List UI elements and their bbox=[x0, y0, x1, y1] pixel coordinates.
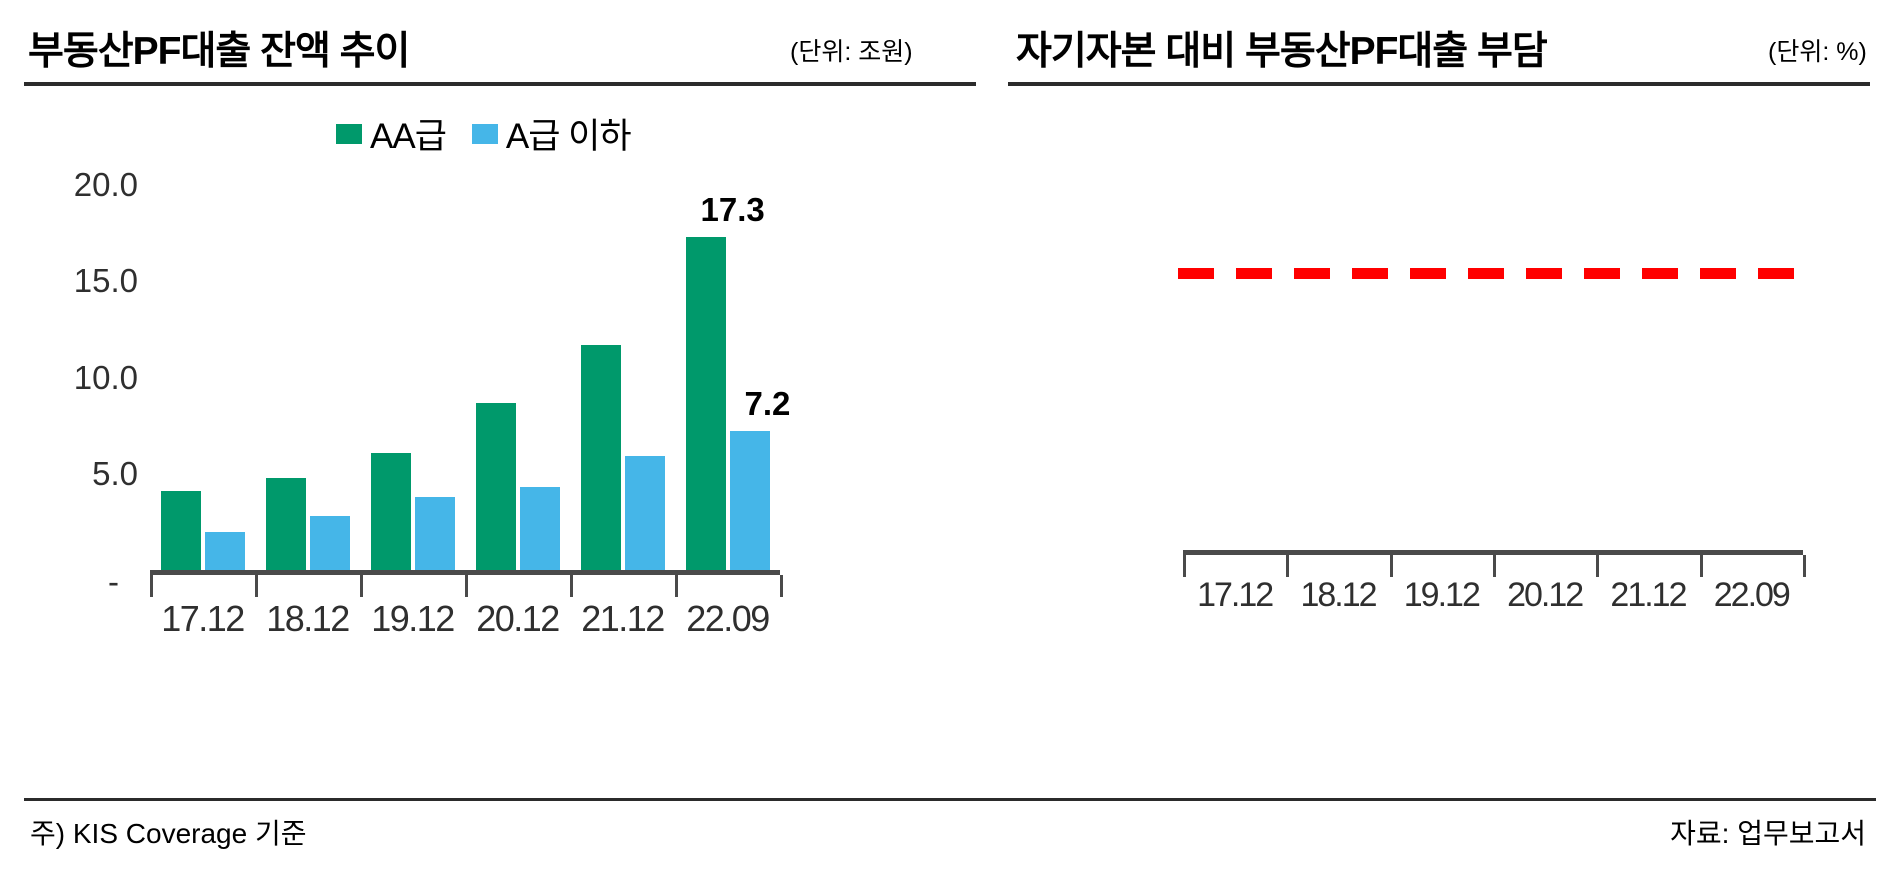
left-panel-header: 부동산PF대출 잔액 추이 (단위: 조원) bbox=[0, 0, 1000, 84]
left-chart-panel: 부동산PF대출 잔액 추이 (단위: 조원) AA급 A급 이하 20.015.… bbox=[0, 0, 1000, 879]
bar-aa[interactable] bbox=[161, 491, 201, 570]
bar-a-below[interactable] bbox=[310, 516, 350, 570]
x-axis-tick-mark bbox=[150, 575, 153, 597]
y-axis-tick-label: 5.0 bbox=[92, 455, 138, 493]
x-axis-tick-label: 19.12 bbox=[360, 598, 465, 640]
bar-group bbox=[465, 185, 570, 570]
bar-aa[interactable] bbox=[476, 403, 516, 570]
legend-item-aa: AA급 bbox=[336, 108, 446, 159]
footer-source: 자료: 업무보고서 bbox=[1670, 812, 1866, 852]
slide-canvas: 부동산PF대출 잔액 추이 (단위: 조원) AA급 A급 이하 20.015.… bbox=[0, 0, 1900, 879]
x-axis-tick-mark bbox=[1700, 555, 1703, 577]
x-axis-tick-mark bbox=[360, 575, 363, 597]
right-x-axis-line bbox=[1183, 550, 1803, 555]
left-x-axis-line bbox=[150, 570, 780, 575]
y-axis-tick-label: 15.0 bbox=[74, 262, 138, 300]
right-panel-header: 자기자본 대비 부동산PF대출 부담 (단위: %) bbox=[1000, 0, 1900, 84]
x-axis-tick-label: 17.12 bbox=[1183, 576, 1286, 615]
x-axis-tick-mark bbox=[570, 575, 573, 597]
legend-swatch-aa-icon bbox=[336, 124, 362, 144]
bar-aa[interactable] bbox=[581, 345, 621, 570]
x-axis-tick-label: 22.09 bbox=[675, 598, 780, 640]
x-axis-tick-mark bbox=[255, 575, 258, 597]
bar-group bbox=[675, 185, 780, 570]
reference-line-100-percent bbox=[1178, 268, 1808, 279]
x-axis-tick-mark bbox=[675, 575, 678, 597]
legend-item-a: A급 이하 bbox=[472, 108, 631, 159]
x-axis-tick-mark bbox=[1390, 555, 1393, 577]
x-axis-tick-mark bbox=[1493, 555, 1496, 577]
x-axis-tick-label: 21.12 bbox=[570, 598, 675, 640]
left-header-divider bbox=[24, 82, 976, 86]
bar-a-below[interactable] bbox=[205, 532, 245, 571]
x-axis-tick-label: 19.12 bbox=[1390, 576, 1493, 615]
x-axis-tick-label: 20.12 bbox=[465, 598, 570, 640]
x-axis-tick-label: 20.12 bbox=[1493, 576, 1596, 615]
x-axis-tick-mark bbox=[780, 575, 783, 597]
right-chart-unit-label: (단위: %) bbox=[1768, 32, 1867, 68]
right-x-axis-labels: 17.1218.1219.1220.1221.1222.09 bbox=[1183, 576, 1803, 615]
left-y-axis: 20.015.010.05.0 bbox=[10, 185, 138, 570]
x-axis-tick-label: 18.12 bbox=[255, 598, 360, 640]
bar-aa[interactable] bbox=[371, 453, 411, 570]
left-y-zero-label: - bbox=[108, 563, 119, 601]
bar-value-label: 7.2 bbox=[745, 385, 791, 423]
right-chart-title: 자기자본 대비 부동산PF대출 부담 bbox=[1016, 20, 1547, 76]
right-header-divider bbox=[1008, 82, 1870, 86]
bar-a-below[interactable] bbox=[730, 431, 770, 570]
x-axis-tick-label: 22.09 bbox=[1700, 576, 1803, 615]
bar-aa[interactable] bbox=[686, 237, 726, 570]
legend-swatch-a-icon bbox=[472, 124, 498, 144]
footer-divider bbox=[24, 798, 1876, 801]
bar-value-label: 17.3 bbox=[701, 191, 765, 229]
legend-label-a: A급 이하 bbox=[506, 108, 631, 159]
y-axis-tick-label: 10.0 bbox=[74, 359, 138, 397]
bar-group bbox=[570, 185, 675, 570]
left-x-axis-labels: 17.1218.1219.1220.1221.1222.09 bbox=[150, 598, 780, 640]
x-axis-tick-label: 18.12 bbox=[1286, 576, 1389, 615]
x-axis-tick-mark bbox=[1596, 555, 1599, 577]
legend-label-aa: AA급 bbox=[370, 108, 446, 159]
bar-a-below[interactable] bbox=[415, 497, 455, 570]
x-axis-tick-mark bbox=[1803, 555, 1806, 577]
bar-a-below[interactable] bbox=[520, 487, 560, 570]
left-plot-area: 20.015.010.05.0 17.37.2 bbox=[150, 185, 780, 570]
x-axis-tick-label: 21.12 bbox=[1596, 576, 1699, 615]
x-axis-tick-mark bbox=[465, 575, 468, 597]
bar-group bbox=[360, 185, 465, 570]
left-chart-title: 부동산PF대출 잔액 추이 bbox=[28, 20, 409, 76]
left-bar-group-container bbox=[150, 185, 780, 570]
y-axis-tick-label: 20.0 bbox=[74, 166, 138, 204]
x-axis-tick-mark bbox=[1183, 555, 1186, 577]
left-chart-unit-label: (단위: 조원) bbox=[790, 32, 913, 68]
bar-group bbox=[255, 185, 360, 570]
bar-a-below[interactable] bbox=[625, 456, 665, 570]
x-axis-tick-mark bbox=[1286, 555, 1289, 577]
x-axis-tick-label: 17.12 bbox=[150, 598, 255, 640]
footer-note: 주) KIS Coverage 기준 bbox=[30, 812, 306, 852]
bar-group bbox=[150, 185, 255, 570]
left-chart-legend: AA급 A급 이하 bbox=[336, 108, 631, 159]
right-chart-panel: 자기자본 대비 부동산PF대출 부담 (단위: %) AA급 A급 이하 120… bbox=[1000, 0, 1900, 879]
bar-aa[interactable] bbox=[266, 478, 306, 570]
